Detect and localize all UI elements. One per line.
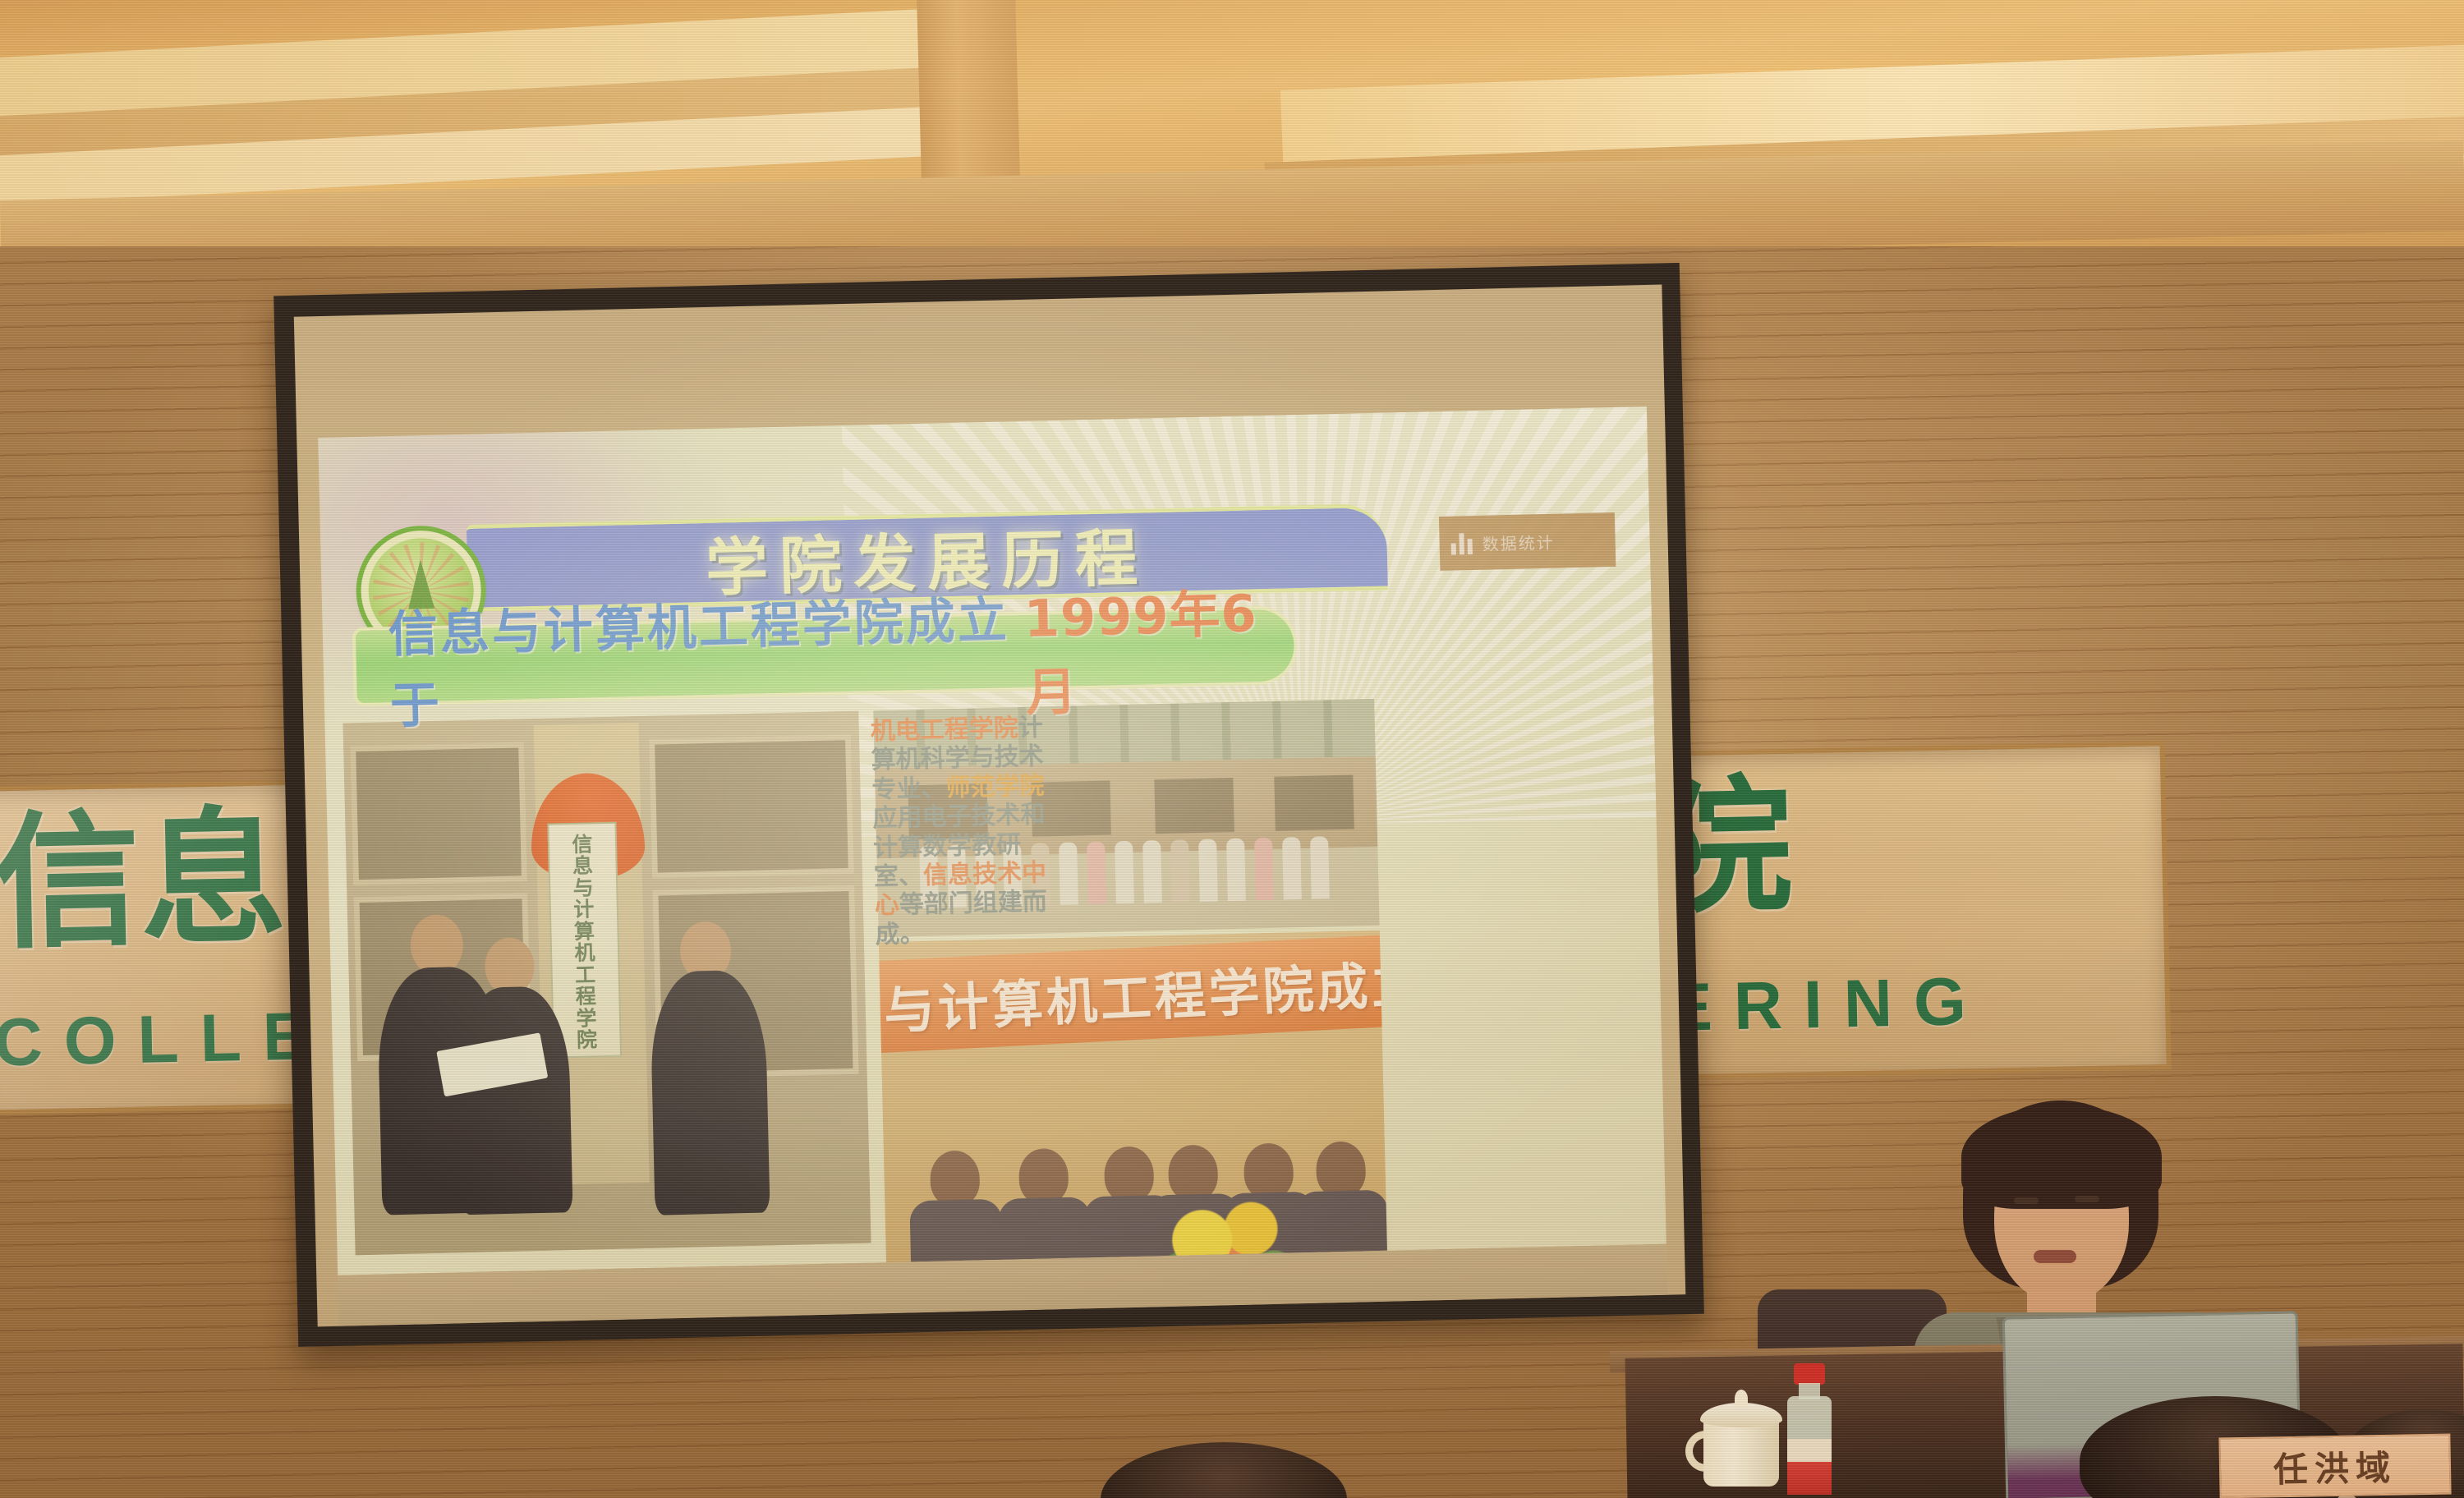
projection-screen: 学院发展历程 数据统计 信息与计算机工程学院成立于 1999年6月 [274,263,1704,1347]
slide-body-text: 机电工程学院计算机科学与技术专业、师范学院应用电子技术和计算数学教研室、信息技术… [870,713,1071,950]
bottle-label-lower [1787,1462,1832,1495]
water-bottle[interactable] [1784,1363,1835,1495]
cup-lid-knob [1735,1390,1748,1408]
ceremony-photo: 与计算机工程学院成立庆典 [879,931,1391,1275]
photo-seated-person [908,1150,1004,1275]
screen-surface: 学院发展历程 数据统计 信息与计算机工程学院成立于 1999年6月 [294,285,1686,1327]
subtitle-prefix: 信息与计算机工程学院成立于 [388,580,1027,738]
photo-person-body [650,969,770,1215]
badge-label: 数据统计 [1482,529,1555,554]
presenter-eye [2014,1197,2039,1204]
nameplate-text: 任洪域 [2273,1440,2397,1492]
body-text-seg3: 师范学院 [945,771,1045,802]
bar-chart-icon [1450,531,1473,555]
presenter-fringe [1961,1105,2162,1209]
ceiling [0,0,2464,271]
body-text-seg6: 等部门组建而成。 [875,888,1047,949]
subtitle-highlight: 1999年6月 [1023,571,1296,725]
desk-nameplate: 任洪域 [2218,1434,2451,1498]
body-text-seg1: 机电工程学院 [870,714,1018,746]
presentation-slide: 学院发展历程 数据统计 信息与计算机工程学院成立于 1999年6月 [318,407,1666,1275]
photo-window [350,742,527,885]
bottle-label [1787,1439,1832,1462]
photo-person-body [456,986,572,1215]
slide-subtitle-pill: 信息与计算机工程学院成立于 1999年6月 [352,605,1299,706]
photo-window [649,734,854,879]
slide-watermark-badge: 数据统计 [1439,512,1616,571]
presenter-mouth [2034,1250,2076,1263]
bottle-cap [1794,1363,1825,1385]
photo-seated-person [997,1147,1092,1275]
plaque-unveiling-photo: 信息与计算机工程学院 [342,711,871,1256]
presenter-eye [2075,1196,2099,1202]
tea-cup[interactable] [1699,1388,1787,1487]
screenshot-root: 信息 院 COLLEG ERING 学院发展历程 [0,0,2464,1498]
